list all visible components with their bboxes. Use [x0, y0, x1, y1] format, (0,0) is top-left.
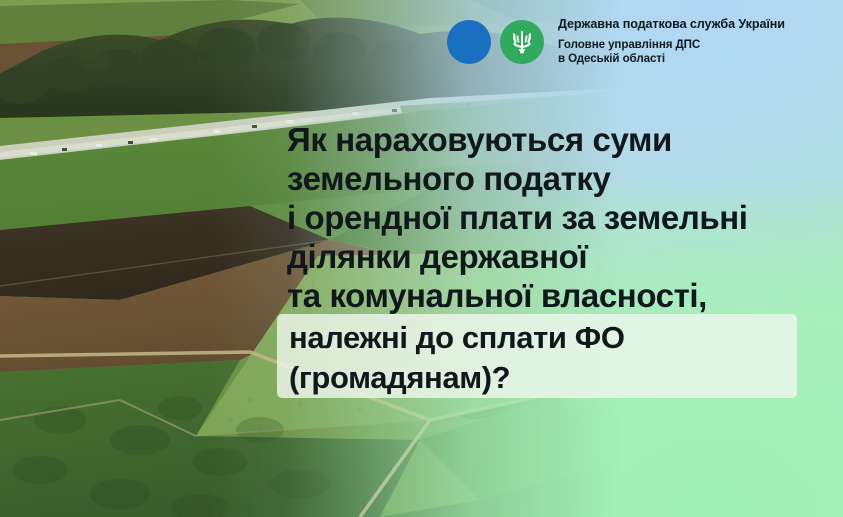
- headline-line-4: ділянки державної: [287, 237, 827, 276]
- headline-line-1: Як нараховуються суми: [287, 120, 827, 159]
- infographic-banner: Державна податкова служба України Головн…: [0, 0, 843, 517]
- logo-title: Державна податкова служба України: [558, 18, 785, 31]
- headline-line-5: та комунальної власності,: [287, 276, 827, 315]
- headline-line-2: земельного податку: [287, 159, 827, 198]
- ukraine-trident-icon: [500, 20, 544, 64]
- logo-text-block: Державна податкова служба України Головн…: [558, 17, 785, 66]
- highlight-line-1: належні до сплати ФО: [289, 318, 799, 358]
- logo-subtitle-line-2: в Одеській області: [558, 52, 785, 66]
- logo-subtitle-line-1: Головне управління ДПС: [558, 38, 785, 52]
- headline-line-3: і орендної плати за земельні: [287, 198, 827, 237]
- headline: Як нараховуються суми земельного податку…: [287, 120, 827, 315]
- dps-logo: Державна податкова служба України Головн…: [447, 17, 785, 66]
- highlight-line-2: (громадянам)?: [289, 358, 799, 398]
- logo-subtitle: Головне управління ДПС в Одеській област…: [558, 38, 785, 65]
- highlight-text: належні до сплати ФО (громадянам)?: [289, 318, 799, 398]
- blue-circle-icon: [447, 20, 491, 64]
